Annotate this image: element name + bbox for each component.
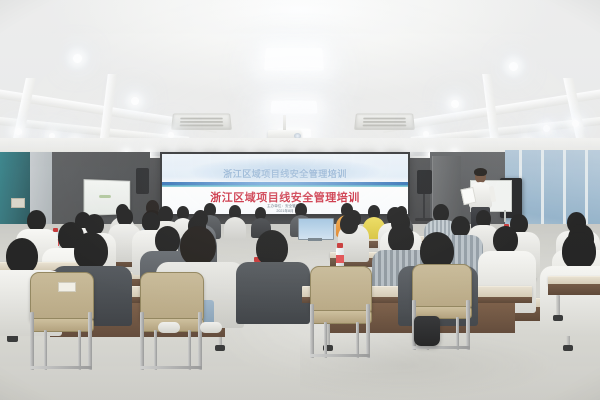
whiteboard-marking — [99, 195, 111, 198]
downlight-1 — [73, 54, 82, 63]
slide-title: 浙江区域项目线安全管理培训 — [172, 189, 398, 205]
slide-banner-text: 浙江区域项目线安全管理培训 — [182, 167, 389, 180]
left-exit-door — [0, 152, 30, 226]
exit-sign-icon — [11, 198, 25, 208]
slide-accent-bar-secondary — [162, 185, 408, 187]
ceiling-panel-light-2 — [271, 101, 318, 114]
ceiling — [0, 0, 600, 152]
ac-vent-right — [354, 114, 415, 130]
floor-bag — [414, 316, 440, 346]
projector-mount-pole — [283, 115, 286, 131]
downlight-3 — [15, 128, 22, 135]
ac-vent-left — [171, 114, 232, 130]
wall-speaker-left — [136, 168, 149, 194]
downlight-2 — [131, 97, 139, 105]
shoe-right — [200, 322, 222, 333]
downlight-10 — [543, 125, 550, 132]
speaker-right — [417, 170, 432, 194]
desk-monitor — [298, 218, 334, 240]
ceiling-panel-light-1 — [264, 48, 324, 70]
downlight-9 — [423, 131, 429, 137]
shoe-left — [158, 322, 180, 333]
downlight-8 — [451, 100, 459, 108]
downlight-7 — [509, 62, 518, 71]
speaker-stand — [423, 194, 425, 220]
downlight-11 — [572, 120, 579, 127]
desk-monitor-base — [308, 238, 322, 241]
training-room-photo: 浙江区域项目线安全管理培训 浙江区域项目线安全管理培训 主办单位：安全管理部 2… — [0, 0, 600, 400]
